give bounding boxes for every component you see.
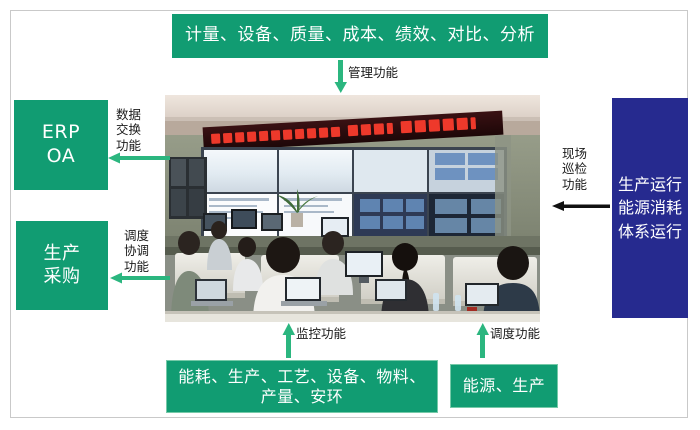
manage-arrow-down	[333, 60, 349, 94]
dispatch-coord-label-line1: 调度	[124, 228, 149, 243]
schedule-arrow-label: 调度功能	[490, 327, 540, 342]
dispatch-coord-label-line2: 协调	[124, 243, 149, 258]
bottom-left-line2: 产量、安环	[261, 387, 344, 406]
data-exchange-arrow-left	[108, 152, 170, 164]
dispatch-coordination-arrow-label: 调度 协调 功能	[124, 228, 149, 274]
production-purchase-line2: 采购	[44, 266, 81, 287]
erp-oa-line2: OA	[47, 145, 76, 167]
bottom-right-line1: 能源、生产	[463, 376, 546, 396]
site-inspection-label-line2: 巡检	[562, 161, 587, 176]
data-exchange-label-line2: 交换	[116, 122, 141, 137]
ops-box-line3: 体系运行	[618, 222, 682, 241]
production-energy-operation-box: 生产运行 能源消耗 体系运行	[612, 98, 688, 318]
data-exchange-label-line1: 数据	[116, 107, 141, 122]
dispatch-coordination-arrow-left	[110, 272, 170, 284]
dispatch-coord-label-line3: 功能	[124, 259, 149, 274]
diagram-canvas: 计量、设备、质量、成本、绩效、对比、分析 管理功能	[0, 0, 700, 430]
site-inspection-label-line3: 功能	[562, 177, 587, 192]
data-exchange-label-line3: 功能	[116, 138, 141, 153]
schedule-arrow-up	[475, 322, 491, 358]
erp-oa-box: ERP OA	[14, 100, 108, 190]
site-inspection-arrow-label: 现场 巡检 功能	[562, 146, 587, 192]
bottom-right-scope-box: 能源、生产	[450, 364, 558, 408]
site-inspection-label-line1: 现场	[562, 146, 587, 161]
site-inspection-arrow-left	[552, 200, 610, 212]
monitor-arrow-up	[281, 322, 297, 358]
ops-box-line2: 能源消耗	[618, 198, 682, 217]
data-exchange-arrow-label: 数据 交换 功能	[116, 107, 141, 153]
top-banner-text: 计量、设备、质量、成本、绩效、对比、分析	[185, 25, 535, 46]
bottom-left-line1: 能耗、生产、工艺、设备、物料、	[178, 367, 426, 386]
erp-oa-line1: ERP	[42, 121, 80, 143]
manage-arrow-label: 管理功能	[348, 66, 398, 81]
control-room-photo	[165, 95, 540, 322]
production-purchase-box: 生产 采购	[16, 221, 108, 310]
bottom-left-scope-box: 能耗、生产、工艺、设备、物料、 产量、安环	[166, 360, 438, 413]
monitor-arrow-label: 监控功能	[296, 327, 346, 342]
top-banner-box: 计量、设备、质量、成本、绩效、对比、分析	[172, 14, 548, 58]
ops-box-line1: 生产运行	[618, 175, 682, 194]
production-purchase-line1: 生产	[44, 243, 81, 264]
